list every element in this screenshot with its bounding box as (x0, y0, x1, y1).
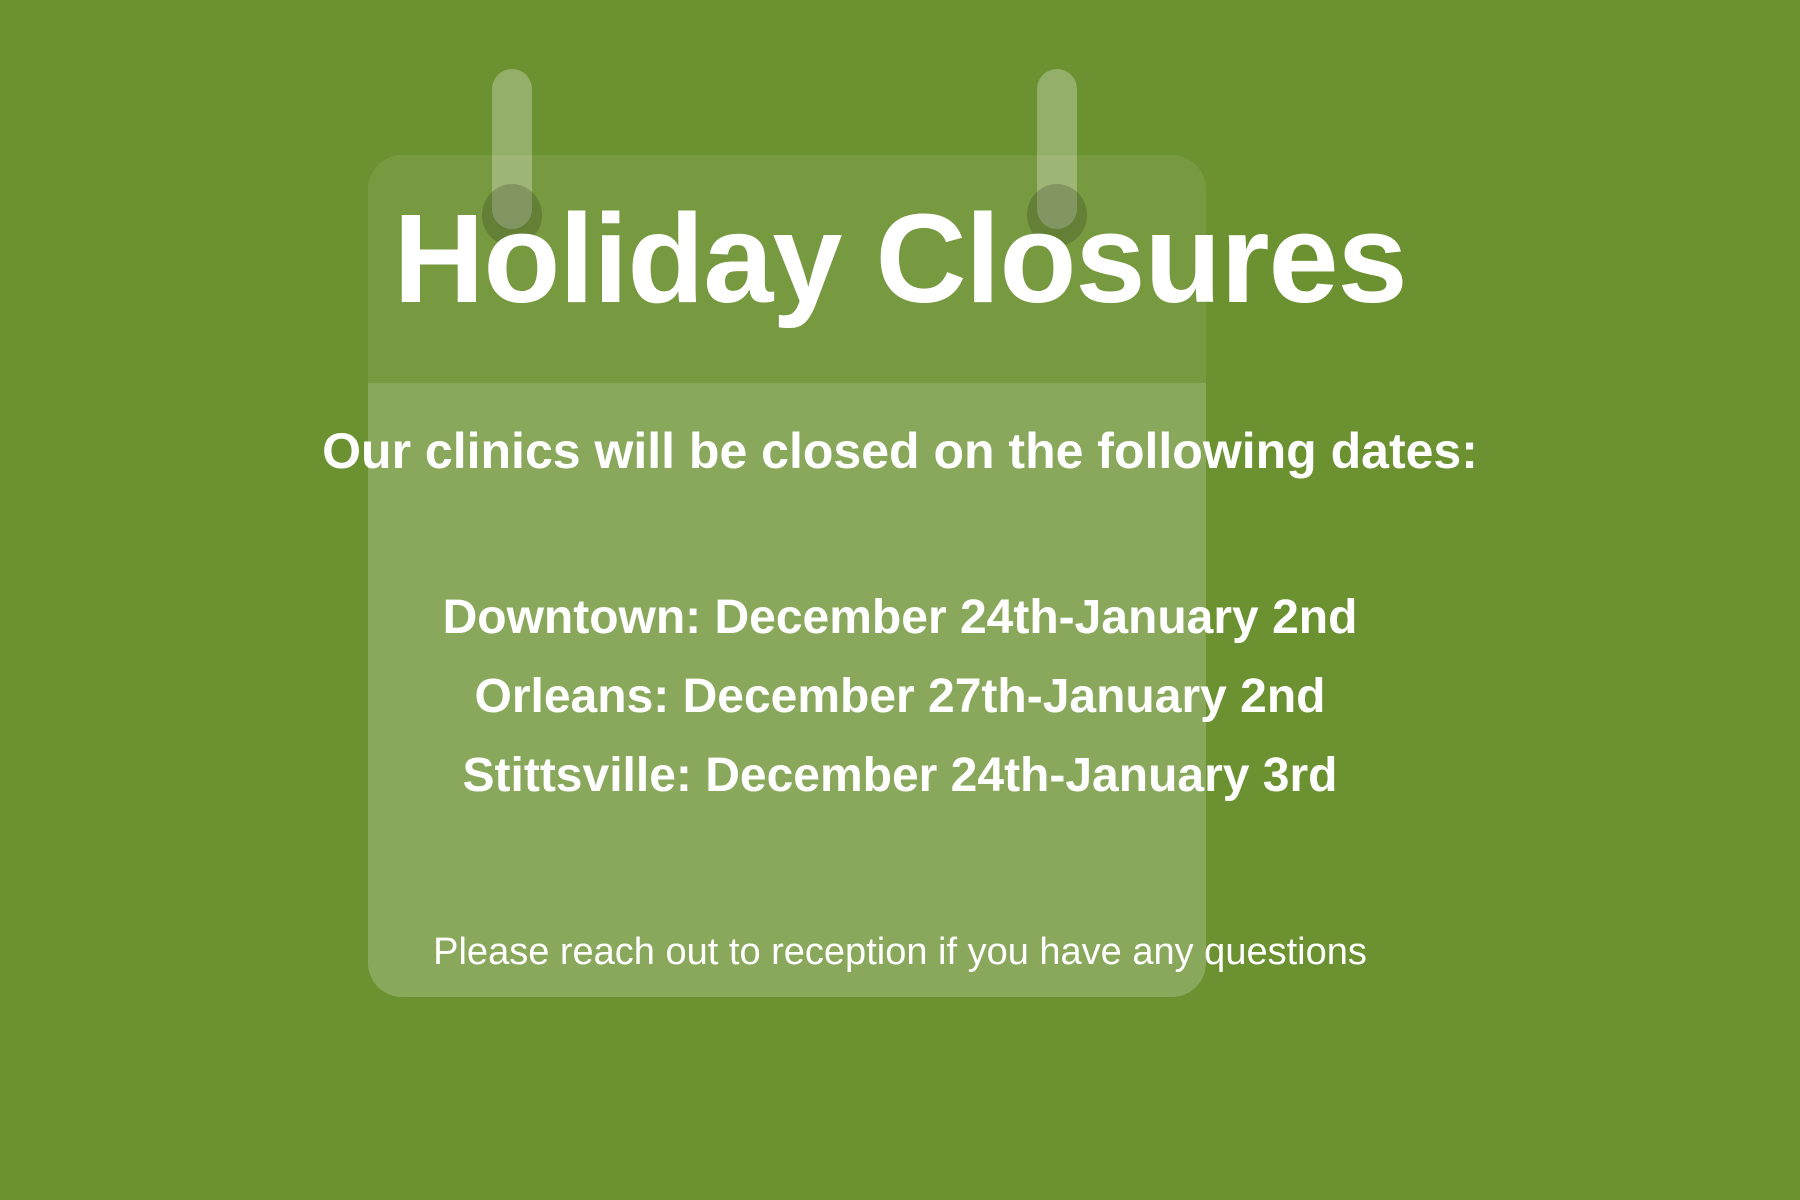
closure-list: Downtown: December 24th-January 2nd Orle… (0, 578, 1800, 815)
subtitle-text: Our clinics will be closed on the follow… (0, 424, 1800, 479)
footer-note: Please reach out to reception if you hav… (0, 930, 1800, 976)
page-title: Holiday Closures (0, 196, 1800, 322)
list-item: Orleans: December 27th-January 2nd (0, 657, 1800, 736)
announcement-card: Holiday Closures Our clinics will be clo… (0, 0, 1800, 1200)
list-item: Downtown: December 24th-January 2nd (0, 578, 1800, 657)
list-item: Stittsville: December 24th-January 3rd (0, 736, 1800, 815)
